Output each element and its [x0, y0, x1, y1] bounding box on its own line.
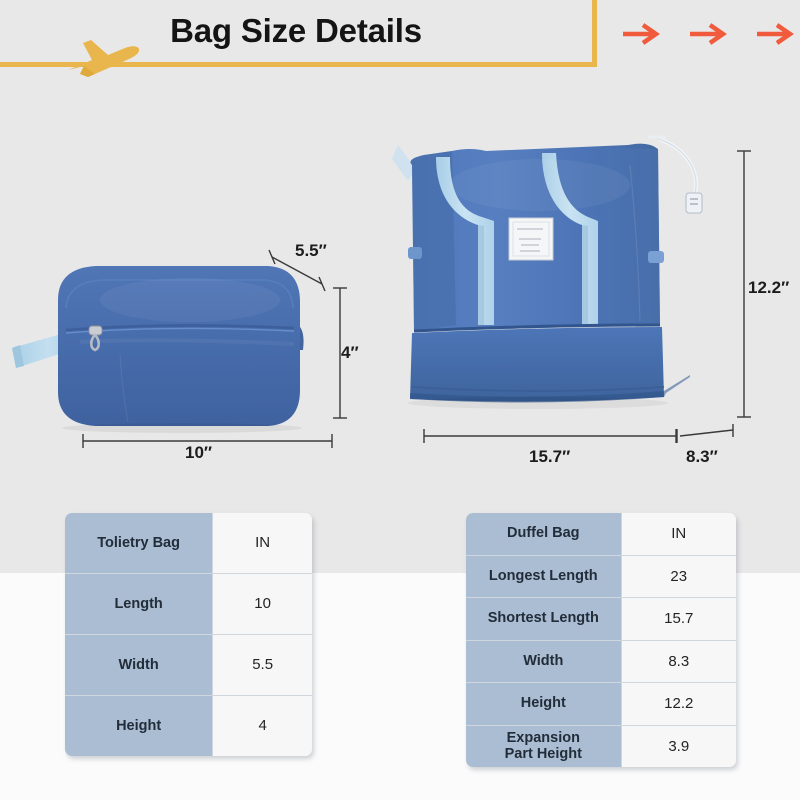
duffel-row-value: 3.9	[622, 726, 736, 768]
toiletry-table-unit: IN	[213, 513, 312, 574]
table-row: Duffel Bag IN	[466, 513, 736, 556]
care-label-tag	[509, 218, 553, 260]
page-title: Bag Size Details	[0, 12, 592, 50]
duffel-depth-label: 8.3″	[686, 447, 718, 467]
duffel-width-label: 15.7″	[529, 447, 570, 467]
duffel-row-label: Longest Length	[466, 556, 622, 599]
toiletry-row-value: 4	[213, 696, 312, 756]
header-rule-vertical	[592, 0, 597, 67]
table-row: Width 8.3	[466, 641, 736, 684]
duffel-row-value: 23	[622, 556, 736, 599]
duffel-table-title: Duffel Bag	[466, 513, 622, 556]
toiletry-width-label: 10″	[185, 443, 212, 463]
duffel-row-label: Expansion Part Height	[466, 726, 622, 768]
duffel-row-label: Height	[466, 683, 622, 726]
table-row: Shortest Length 15.7	[466, 598, 736, 641]
duffel-height-label: 12.2″	[748, 278, 789, 298]
arrow-right-icon	[620, 20, 662, 48]
duffel-row-label: Width	[466, 641, 622, 684]
infographic-page: Bag Size Details	[0, 0, 800, 800]
table-row: Length 10	[65, 574, 312, 635]
duffel-spec-table: Duffel Bag IN Longest Length 23 Shortest…	[466, 513, 736, 767]
table-row: Tolietry Bag IN	[65, 513, 312, 574]
arrow-decoration-group	[620, 17, 796, 51]
duffel-bag-image	[390, 125, 790, 470]
arrow-right-icon	[687, 20, 729, 48]
toiletry-spec-table: Tolietry Bag IN Length 10 Width 5.5 Heig…	[65, 513, 312, 756]
duffel-table-unit: IN	[622, 513, 736, 556]
toiletry-row-label: Length	[65, 574, 213, 635]
table-row: Width 5.5	[65, 635, 312, 696]
toiletry-bag-image	[10, 240, 370, 470]
arrow-right-icon	[754, 20, 796, 48]
toiletry-row-label: Width	[65, 635, 213, 696]
duffel-row-value: 8.3	[622, 641, 736, 684]
duffel-row-value: 12.2	[622, 683, 736, 726]
toiletry-depth-label: 5.5″	[295, 241, 327, 261]
toiletry-row-value: 10	[213, 574, 312, 635]
duffel-row-label: Shortest Length	[466, 598, 622, 641]
toiletry-table-title: Tolietry Bag	[65, 513, 213, 574]
toiletry-row-label: Height	[65, 696, 213, 756]
toiletry-height-label: 4″	[341, 343, 359, 363]
table-row: Expansion Part Height 3.9	[466, 726, 736, 768]
toiletry-row-value: 5.5	[213, 635, 312, 696]
table-row: Height 12.2	[466, 683, 736, 726]
table-row: Longest Length 23	[466, 556, 736, 599]
duffel-row-value: 15.7	[622, 598, 736, 641]
table-row: Height 4	[65, 696, 312, 756]
